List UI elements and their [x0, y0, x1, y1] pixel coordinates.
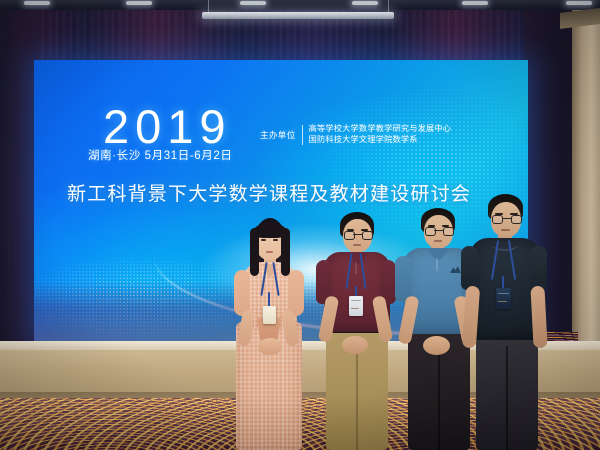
- ceiling-light: [566, 1, 592, 5]
- person-1-clasped-hands: [258, 338, 282, 355]
- person-1-eye: [261, 239, 266, 241]
- organizer-line: 高等学校大学数学教学研究与发展中心: [309, 124, 452, 134]
- person-3-mouth: [434, 240, 442, 242]
- person-2: [312, 212, 400, 450]
- screen-year-text: 2019: [103, 103, 232, 150]
- person-4-forearm-right: [530, 286, 547, 349]
- person-1: [226, 218, 312, 450]
- person-2-glasses: [343, 231, 372, 240]
- screen-organizer-block: 主办单位 高等学校大学数学教学研究与发展中心 国防科技大学文理学院数学系: [260, 124, 451, 145]
- conference-group-photo: 2019 湖南·长沙 5月31日-6月2日 主办单位 高等学校大学数学教学研究与…: [0, 0, 600, 450]
- person-1-mouth: [266, 251, 273, 253]
- person-3-placket: [436, 258, 438, 271]
- ceiling-light: [352, 1, 378, 5]
- screen-main-title: 新工科背景下大学数学课程及教材建设研讨会: [67, 183, 471, 207]
- person-4-mouth: [501, 229, 510, 231]
- person-4-arm-right: [530, 246, 547, 290]
- person-2-placket: [355, 262, 357, 274]
- person-4-arm-left: [461, 246, 478, 290]
- organizer-list: 高等学校大学数学教学研究与发展中心 国防科技大学文理学院数学系: [309, 124, 452, 145]
- ceiling-light: [126, 1, 152, 5]
- ceiling-light: [24, 1, 50, 5]
- light-bar: [202, 12, 394, 19]
- person-3-trouser-seam: [438, 344, 440, 450]
- person-1-hair-side: [250, 228, 259, 276]
- ceiling-light: [462, 1, 488, 5]
- person-2-clasped-hands: [342, 336, 368, 354]
- organizer-divider: [302, 125, 303, 145]
- screen-location-date: 湖南·长沙 5月31日-6月2日: [88, 150, 232, 163]
- organizer-line: 国防科技大学文理学院数学系: [309, 135, 452, 145]
- person-3-arm-left: [395, 256, 412, 302]
- person-4-badge: [496, 288, 511, 309]
- person-4-jeans-seam: [506, 346, 508, 450]
- organizer-label: 主办单位: [260, 130, 296, 140]
- person-4-glasses: [491, 215, 521, 224]
- person-1-eye: [273, 239, 278, 241]
- person-1-arm-right: [288, 270, 304, 316]
- person-2-trouser-seam: [356, 344, 358, 450]
- person-1-hair-side: [281, 228, 290, 276]
- person-3-clasped-hands: [423, 336, 450, 355]
- person-2-mouth: [353, 244, 361, 246]
- person-2-badge: [349, 296, 363, 316]
- person-1-badge: [263, 306, 276, 324]
- ceiling-light: [240, 1, 266, 5]
- person-4: [458, 194, 550, 450]
- person-3-glasses: [424, 227, 453, 236]
